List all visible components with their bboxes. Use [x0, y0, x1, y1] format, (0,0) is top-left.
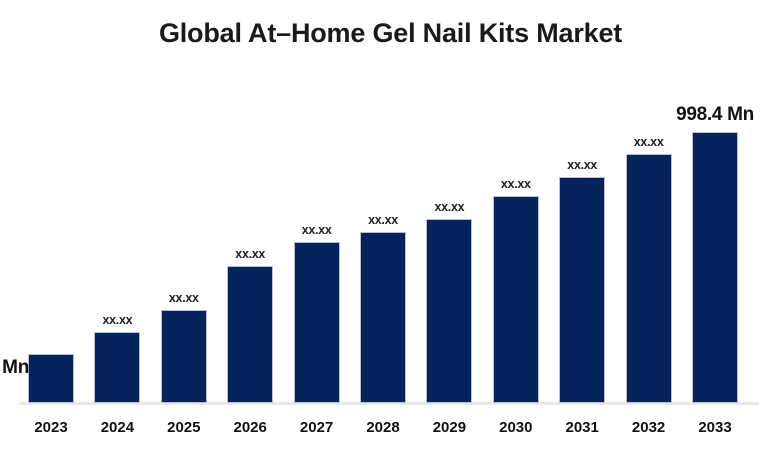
bar-group-2024: xx.xx2024	[94, 332, 140, 403]
x-axis-tick-2023: 2023	[34, 419, 67, 436]
bar-2026[interactable]	[227, 266, 273, 403]
bar-value-label-2029: xx.xx	[435, 200, 465, 214]
bar-2024[interactable]	[94, 332, 140, 403]
x-axis-tick-2032: 2032	[632, 419, 665, 436]
bar-value-label-2028: xx.xx	[368, 213, 398, 227]
x-axis-tick-2024: 2024	[101, 419, 134, 436]
x-axis-tick-2027: 2027	[300, 419, 333, 436]
x-axis-tick-2026: 2026	[234, 419, 267, 436]
bar-2033[interactable]	[692, 132, 738, 403]
bar-2029[interactable]	[426, 219, 472, 403]
bar-2028[interactable]	[360, 232, 406, 403]
bar-value-label-2026: xx.xx	[235, 247, 265, 261]
bar-group-2029: xx.xx2029	[426, 219, 472, 403]
bar-group-2027: xx.xx2027	[294, 242, 340, 403]
bar-value-label-2027: xx.xx	[302, 223, 332, 237]
bar-group-2032: xx.xx2032	[626, 154, 672, 403]
bar-group-2030: xx.xx2030	[493, 196, 539, 403]
bar-group-2028: xx.xx2028	[360, 232, 406, 403]
x-axis-tick-2030: 2030	[499, 419, 532, 436]
bar-value-label-2023: 648.4 Mn	[0, 357, 29, 379]
x-axis-tick-2025: 2025	[167, 419, 200, 436]
x-axis-tick-2031: 2031	[566, 419, 599, 436]
x-axis-tick-2029: 2029	[433, 419, 466, 436]
plot-area: 648.4 Mn2023xx.xx2024xx.xx2025xx.xx2026x…	[0, 0, 781, 451]
bar-value-label-2031: xx.xx	[567, 158, 597, 172]
bar-value-label-2025: xx.xx	[169, 291, 199, 305]
bar-group-2031: xx.xx2031	[559, 177, 605, 403]
bar-2030[interactable]	[493, 196, 539, 403]
bar-2023[interactable]	[28, 354, 74, 403]
bar-group-2023: 648.4 Mn2023	[28, 354, 74, 403]
x-axis-tick-2033: 2033	[698, 419, 731, 436]
bar-value-label-2032: xx.xx	[634, 135, 664, 149]
bar-2032[interactable]	[626, 154, 672, 403]
chart-canvas: Global At–Home Gel Nail Kits Market 648.…	[0, 0, 781, 451]
bar-value-label-2024: xx.xx	[103, 313, 133, 327]
bar-group-2025: xx.xx2025	[161, 310, 207, 403]
bar-value-label-2033: 998.4 Mn	[676, 104, 754, 126]
x-axis-tick-2028: 2028	[366, 419, 399, 436]
bar-2031[interactable]	[559, 177, 605, 403]
bar-group-2026: xx.xx2026	[227, 266, 273, 403]
bar-2025[interactable]	[161, 310, 207, 403]
bar-group-2033: 998.4 Mn2033	[692, 132, 738, 403]
bar-value-label-2030: xx.xx	[501, 177, 531, 191]
bar-2027[interactable]	[294, 242, 340, 403]
